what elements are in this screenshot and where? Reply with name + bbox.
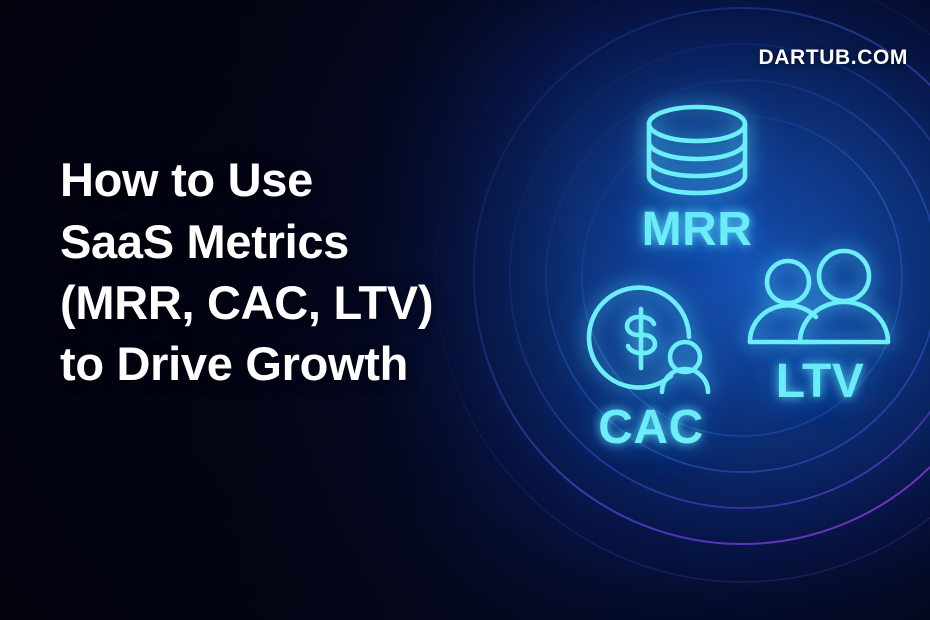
metrics-icon-cluster: MRR CAC [545, 80, 930, 470]
title-line-4: to Drive Growth [60, 333, 530, 394]
title-line-1: How to Use [60, 149, 530, 210]
two-users-icon [740, 248, 900, 352]
metric-cac-label: CAC [567, 404, 735, 452]
metric-ltv-label: LTV [740, 358, 900, 406]
metric-cac: CAC [567, 280, 735, 452]
title-line-3: (MRR, CAC, LTV) [60, 272, 530, 333]
dollar-circle-person-icon [567, 280, 735, 402]
site-watermark: DARTUB.COM [759, 46, 908, 70]
cover-canvas: DARTUB.COM How to Use SaaS Metrics (MRR,… [0, 0, 930, 620]
page-title: How to Use SaaS Metrics (MRR, CAC, LTV) … [60, 149, 530, 393]
metric-ltv: LTV [740, 248, 900, 406]
metric-mrr-label: MRR [617, 206, 777, 254]
metric-mrr: MRR [617, 102, 777, 254]
database-cylinder-icon [617, 102, 777, 198]
title-line-2: SaaS Metrics [60, 211, 530, 272]
